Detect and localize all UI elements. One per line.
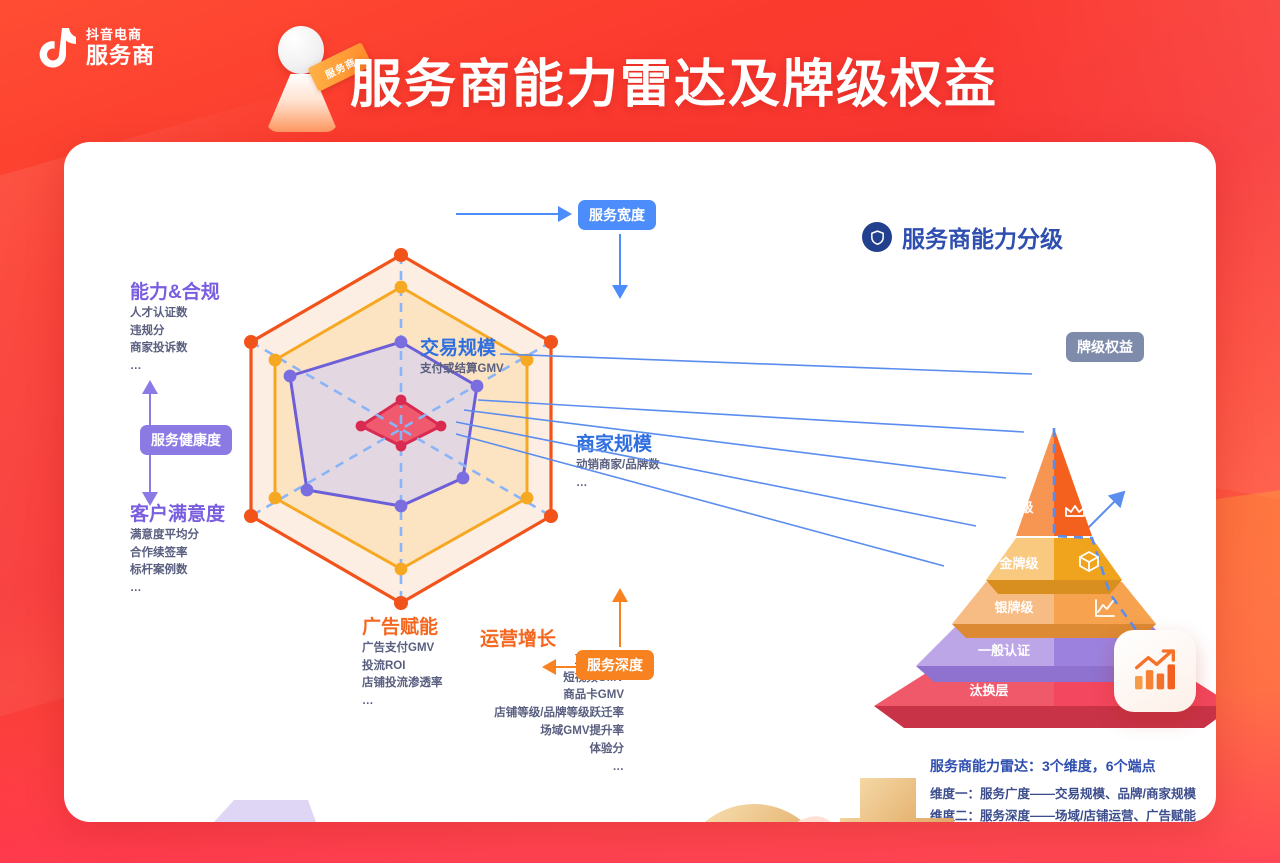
axis-item: 体验分: [444, 741, 624, 759]
axis-item: 店铺等级/品牌等级跃迁率: [444, 705, 624, 723]
brand-title: 服务商: [86, 43, 155, 68]
axis-item: …: [444, 759, 624, 777]
axis-item: 违规分: [130, 323, 220, 341]
axis-label-transaction-scale: 交易规模 支付或结算GMV: [420, 338, 504, 379]
infographic-root: 抖音电商 服务商 服务商 服务商能力雷达及牌级权益: [0, 0, 1280, 863]
axis-label-merchant-scale: 商家规模 动销商家/品牌数 …: [576, 434, 660, 492]
pyramid-label-0: 钻石级: [994, 500, 1034, 516]
axis-items: 支付或结算GMV: [420, 361, 504, 379]
axis-item: 场域GMV提升率: [444, 723, 624, 741]
axis-item: …: [362, 693, 443, 711]
axis-item: 合作续签率: [130, 545, 225, 563]
badge-service-breadth[interactable]: 服务宽度: [578, 200, 656, 230]
hero-person-illustration: 服务商: [258, 26, 354, 134]
pyramid-label-4: 汰换层: [969, 683, 1008, 699]
axis-label-ad-empowerment: 广告赋能 广告支付GMV 投流ROI 店铺投流渗透率 …: [362, 617, 443, 711]
axis-item: 动销商家/品牌数: [576, 457, 660, 475]
tiktok-note-icon: [36, 26, 76, 70]
axis-item: …: [130, 358, 220, 376]
badge-service-health[interactable]: 服务健康度: [140, 425, 232, 455]
brand-lockup: 抖音电商 服务商: [36, 26, 155, 70]
axis-title: 交易规模: [420, 338, 504, 361]
axis-item: 支付或结算GMV: [420, 361, 504, 379]
axis-item: 商家投诉数: [130, 340, 220, 358]
axis-items: 满意度平均分 合作续签率 标杆案例数 …: [130, 527, 225, 598]
axis-label-capability-compliance: 能力&合规 人才认证数 违规分 商家投诉数 …: [130, 282, 220, 376]
tier-heading-label: 服务商能力分级: [902, 220, 1063, 254]
pyramid-label-1: 金牌级: [998, 556, 1039, 572]
axis-label-customer-satisfaction: 客户满意度 满意度平均分 合作续签率 标杆案例数 …: [130, 504, 225, 598]
brand-subtitle: 抖音电商: [86, 28, 155, 43]
axis-title: 广告赋能: [362, 617, 443, 640]
axis-item: 店铺投流渗透率: [362, 675, 443, 693]
tier-heading: 服务商能力分级: [862, 220, 1063, 254]
axis-item: 投流ROI: [362, 658, 443, 676]
shield-heart-icon: [862, 222, 892, 252]
axis-title: 客户满意度: [130, 504, 225, 527]
content-card: 交易规模 支付或结算GMV 商家规模 动销商家/品牌数 … 运营增长 直播GMV…: [64, 142, 1216, 822]
axis-item: …: [576, 475, 660, 493]
axis-item: 广告支付GMV: [362, 640, 443, 658]
shop-3d-icon: [204, 782, 324, 822]
pyramid-label-2: 银牌级: [994, 600, 1034, 616]
brand-text: 抖音电商 服务商: [86, 28, 155, 68]
axis-items: 人才认证数 违规分 商家投诉数 …: [130, 305, 220, 376]
badge-service-depth[interactable]: 服务深度: [576, 650, 654, 680]
axis-item: 商品卡GMV: [444, 687, 624, 705]
legend-title: 服务商能力雷达：3个维度，6个端点: [930, 756, 1216, 776]
legend-line: 维度一：服务广度——交易规模、品牌/商家规模: [930, 784, 1216, 806]
capability-pyramid: 钻石级 金牌级 银牌级 一般认证 汰换层: [864, 410, 1216, 740]
axis-item: 标杆案例数: [130, 562, 225, 580]
axis-title: 商家规模: [576, 434, 660, 457]
axis-title: 运营增长: [480, 629, 624, 652]
axis-items: 广告支付GMV 投流ROI 店铺投流渗透率 …: [362, 640, 443, 711]
axis-items: 动销商家/品牌数 …: [576, 457, 660, 493]
badge-tier-benefits[interactable]: 牌级权益: [1066, 332, 1144, 362]
axis-item: …: [130, 580, 225, 598]
legend-line: 维度二：服务深度——场域/店铺运营、广告赋能: [930, 806, 1216, 822]
radar-legend-block: 服务商能力雷达：3个维度，6个端点 维度一：服务广度——交易规模、品牌/商家规模…: [930, 756, 1216, 822]
axis-item: 满意度平均分: [130, 527, 225, 545]
pyramid-label-3: 一般认证: [978, 643, 1030, 659]
page-title: 服务商能力雷达及牌级权益: [350, 42, 998, 117]
axis-title: 能力&合规: [130, 282, 220, 305]
axis-item: 人才认证数: [130, 305, 220, 323]
gold-character-3d: [664, 772, 964, 822]
